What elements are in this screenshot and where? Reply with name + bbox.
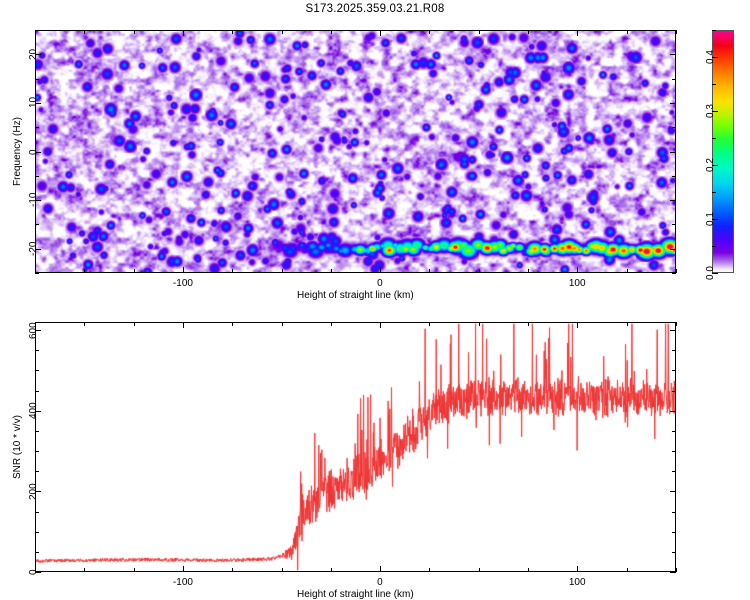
tick-mark: [282, 269, 283, 273]
spectrogram-xtick-100: 100: [569, 278, 586, 289]
tick-mark: [627, 269, 628, 273]
tick-mark: [479, 269, 480, 273]
tick-mark: [670, 103, 676, 104]
tick-mark: [676, 269, 677, 273]
tick-mark: [577, 322, 578, 328]
tick-mark: [672, 471, 676, 472]
snr-x-axis-label: Height of straight line (km): [297, 589, 414, 600]
colorbar-tick-0.2: 0.2: [705, 158, 716, 172]
spectrogram-xtick-0: 0: [377, 278, 383, 289]
spectrogram-xtick--100: -100: [173, 278, 193, 289]
snr-plot-area: [35, 322, 676, 572]
tick-mark: [35, 512, 39, 513]
tick-mark: [35, 350, 39, 351]
tick-mark: [670, 572, 676, 573]
tick-mark: [35, 127, 39, 128]
tick-mark: [35, 471, 39, 472]
tick-mark: [35, 176, 39, 177]
tick-mark: [627, 322, 628, 326]
tick-mark: [134, 269, 135, 273]
tick-mark: [577, 30, 578, 36]
tick-mark: [84, 322, 85, 326]
tick-mark: [183, 30, 184, 36]
tick-mark: [672, 512, 676, 513]
tick-mark: [676, 568, 677, 572]
snr-ytick-200: 200: [28, 483, 39, 500]
tick-mark: [712, 246, 716, 247]
colorbar-tick-0.4: 0.4: [705, 50, 716, 64]
tick-mark: [712, 84, 716, 85]
tick-mark: [282, 30, 283, 34]
tick-mark: [528, 568, 529, 572]
tick-mark: [134, 322, 135, 326]
tick-mark: [183, 322, 184, 328]
tick-mark: [528, 269, 529, 273]
tick-mark: [672, 127, 676, 128]
tick-mark: [672, 532, 676, 533]
figure-root: S173.2025.359.03.21.R08 -1000100-20-1001…: [0, 0, 750, 600]
tick-mark: [479, 568, 480, 572]
tick-mark: [232, 269, 233, 273]
tick-mark: [429, 30, 430, 34]
spectrogram-ytick--10: -10: [28, 193, 39, 207]
spectrogram-ytick-0: 0: [28, 149, 39, 155]
tick-mark: [672, 273, 676, 274]
tick-mark: [232, 30, 233, 34]
tick-mark: [35, 451, 39, 452]
colorbar-tick-0.3: 0.3: [705, 104, 716, 118]
tick-mark: [35, 370, 39, 371]
tick-mark: [380, 30, 381, 36]
snr-ytick-400: 400: [28, 403, 39, 420]
tick-mark: [479, 30, 480, 34]
tick-mark: [676, 30, 677, 34]
snr-xtick-0: 0: [377, 577, 383, 588]
snr-xtick--100: -100: [173, 577, 193, 588]
spectrogram-y-axis-label: Frequency (Hz): [12, 117, 23, 186]
figure-title: S173.2025.359.03.21.R08: [0, 3, 750, 15]
tick-mark: [84, 30, 85, 34]
tick-mark: [672, 391, 676, 392]
tick-mark: [232, 322, 233, 326]
tick-mark: [35, 532, 39, 533]
tick-mark: [35, 391, 39, 392]
tick-mark: [712, 192, 716, 193]
spectrogram-x-axis-label: Height of straight line (km): [297, 290, 414, 301]
snr-ytick-0: 0: [28, 569, 39, 575]
tick-mark: [670, 491, 676, 492]
tick-mark: [35, 79, 39, 80]
tick-mark: [672, 224, 676, 225]
tick-mark: [479, 322, 480, 326]
tick-mark: [380, 322, 381, 328]
tick-mark: [183, 267, 184, 273]
tick-mark: [627, 30, 628, 34]
colorbar-tick-0.0: 0.0: [705, 266, 716, 280]
tick-mark: [429, 322, 430, 326]
tick-mark: [672, 370, 676, 371]
tick-mark: [672, 431, 676, 432]
tick-mark: [380, 267, 381, 273]
tick-mark: [331, 30, 332, 34]
spectrogram-image: [36, 31, 675, 272]
tick-mark: [672, 552, 676, 553]
tick-mark: [672, 79, 676, 80]
tick-mark: [670, 330, 676, 331]
tick-mark: [670, 200, 676, 201]
snr-xtick-100: 100: [569, 577, 586, 588]
tick-mark: [331, 568, 332, 572]
snr-ytick-600: 600: [28, 322, 39, 339]
tick-mark: [84, 568, 85, 572]
tick-mark: [331, 322, 332, 326]
tick-mark: [35, 224, 39, 225]
tick-mark: [528, 30, 529, 34]
tick-mark: [672, 30, 676, 31]
tick-mark: [429, 568, 430, 572]
spectrogram-ytick-10: 10: [28, 97, 39, 108]
tick-mark: [577, 566, 578, 572]
colorbar-tick-0.1: 0.1: [705, 212, 716, 226]
spectrogram-ytick-20: 20: [28, 49, 39, 60]
tick-mark: [84, 269, 85, 273]
colorbar: [712, 30, 734, 273]
tick-mark: [670, 54, 676, 55]
tick-mark: [712, 138, 716, 139]
tick-mark: [672, 451, 676, 452]
tick-mark: [672, 350, 676, 351]
tick-mark: [35, 552, 39, 553]
colorbar-gradient: [712, 30, 734, 273]
tick-mark: [670, 152, 676, 153]
tick-mark: [429, 269, 430, 273]
tick-mark: [670, 249, 676, 250]
tick-mark: [35, 273, 39, 274]
tick-mark: [331, 269, 332, 273]
tick-mark: [676, 322, 677, 326]
tick-mark: [183, 566, 184, 572]
snr-y-axis-label: SNR (10 * v/v): [12, 415, 23, 479]
tick-mark: [282, 568, 283, 572]
tick-mark: [134, 568, 135, 572]
tick-mark: [35, 30, 39, 31]
tick-mark: [282, 322, 283, 326]
snr-trace-line: [36, 323, 675, 571]
tick-mark: [232, 568, 233, 572]
tick-mark: [134, 30, 135, 34]
tick-mark: [712, 30, 716, 31]
tick-mark: [577, 267, 578, 273]
spectrogram-plot-area: [35, 30, 676, 273]
tick-mark: [380, 566, 381, 572]
spectrogram-ytick--20: -20: [28, 241, 39, 255]
tick-mark: [528, 322, 529, 326]
tick-mark: [627, 568, 628, 572]
tick-mark: [670, 411, 676, 412]
tick-mark: [672, 176, 676, 177]
tick-mark: [35, 431, 39, 432]
